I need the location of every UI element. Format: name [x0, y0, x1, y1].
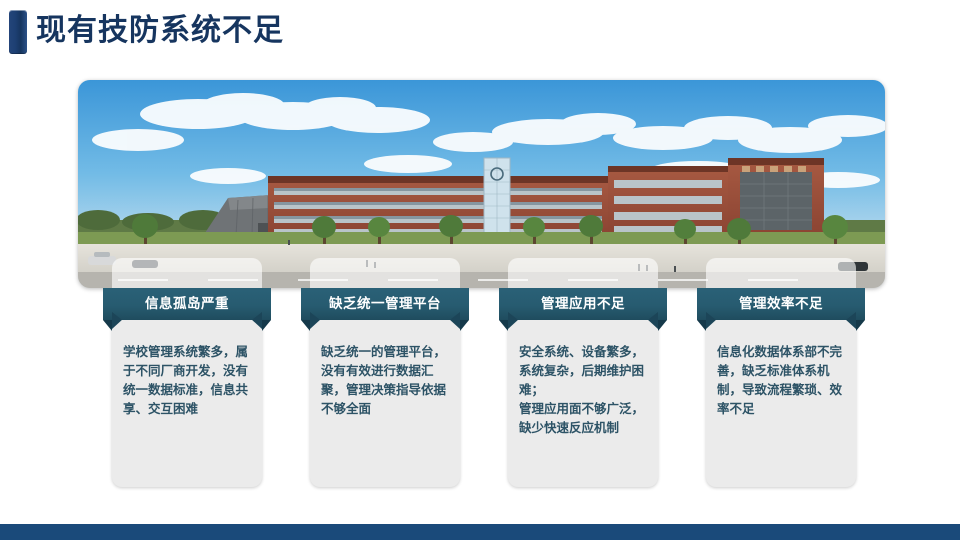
card-photo-overlay — [508, 258, 658, 290]
ribbon-fold-right-icon — [856, 320, 865, 331]
issue-card[interactable]: 信息化数据体系部不完善，缺乏标准体系机制，导致流程繁琐、效率不足 管理效率不足 — [706, 258, 856, 487]
card-ribbon: 缺乏统一管理平台 — [301, 288, 469, 320]
card-description: 安全系统、设备繁多，系统复杂，后期维护困难； 管理应用面不够广泛，缺少快速反应机… — [519, 342, 647, 437]
card-photo-overlay — [112, 258, 262, 290]
card-description: 学校管理系统繁多，属于不同厂商开发，没有统一数据标准，信息共享、交互困难 — [123, 342, 251, 418]
card-photo-overlay — [310, 258, 460, 290]
footer-bar — [0, 524, 960, 540]
card-title: 缺乏统一管理平台 — [301, 288, 469, 320]
card-title: 管理应用不足 — [499, 288, 667, 320]
title-accent-bar — [9, 10, 27, 54]
ribbon-fold-left-icon — [499, 320, 508, 331]
ribbon-fold-right-icon — [658, 320, 667, 331]
issue-card[interactable]: 学校管理系统繁多，属于不同厂商开发，没有统一数据标准，信息共享、交互困难 信息孤… — [112, 258, 262, 487]
ribbon-fold-left-icon — [103, 320, 112, 331]
card-photo-overlay — [706, 258, 856, 290]
card-title: 信息孤岛严重 — [103, 288, 271, 320]
card-ribbon: 管理应用不足 — [499, 288, 667, 320]
ribbon-fold-left-icon — [301, 320, 310, 331]
card-description: 信息化数据体系部不完善，缺乏标准体系机制，导致流程繁琐、效率不足 — [717, 342, 845, 418]
issue-card[interactable]: 安全系统、设备繁多，系统复杂，后期维护困难； 管理应用面不够广泛，缺少快速反应机… — [508, 258, 658, 487]
card-title: 管理效率不足 — [697, 288, 865, 320]
hero-campus-image — [78, 80, 885, 288]
campus-illustration — [78, 80, 885, 288]
page-title: 现有技防系统不足 — [36, 9, 284, 53]
card-ribbon: 信息孤岛严重 — [103, 288, 271, 320]
slide-title-row: 现有技防系统不足 — [0, 0, 960, 66]
card-description: 缺乏统一的管理平台，没有有效进行数据汇聚，管理决策指导依据不够全面 — [321, 342, 449, 418]
ribbon-fold-right-icon — [460, 320, 469, 331]
ribbon-fold-left-icon — [697, 320, 706, 331]
issue-card[interactable]: 缺乏统一的管理平台，没有有效进行数据汇聚，管理决策指导依据不够全面 缺乏统一管理… — [310, 258, 460, 487]
card-ribbon: 管理效率不足 — [697, 288, 865, 320]
ribbon-fold-right-icon — [262, 320, 271, 331]
